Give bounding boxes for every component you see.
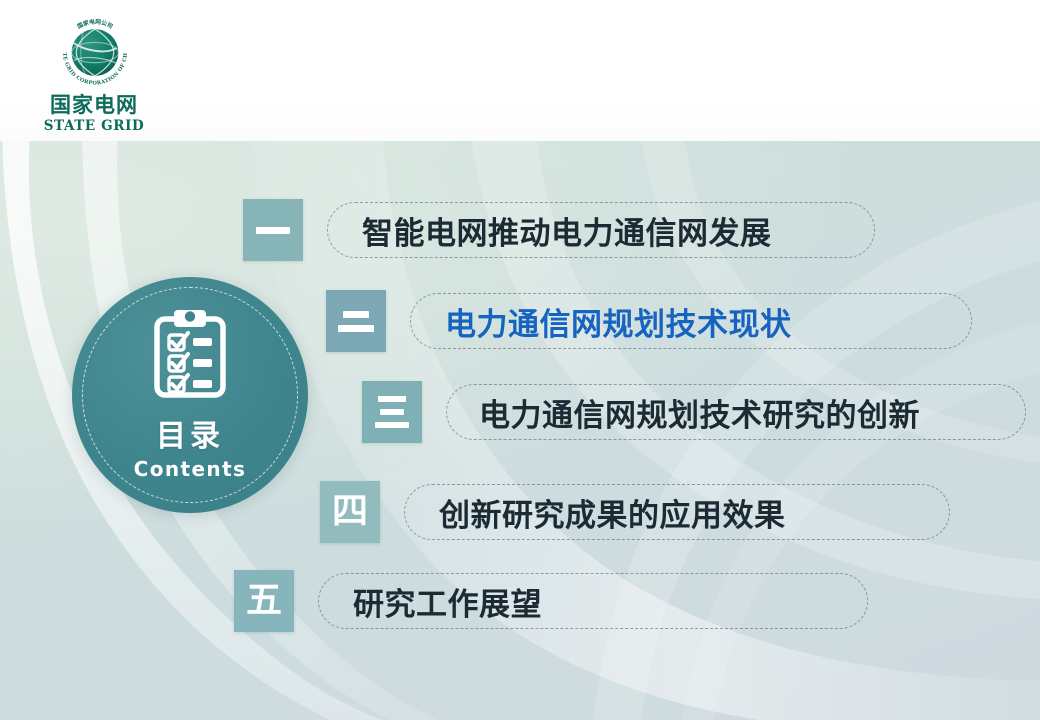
slide-header-band: 国家电网公司 STATE GRID CORPORATION OF CHINA 国… — [0, 0, 1040, 141]
toc-row-4[interactable]: 四 创新研究成果的应用效果 — [320, 481, 960, 543]
contents-title-en: Contents — [72, 457, 308, 481]
toc-numeral-4: 四 — [332, 494, 368, 530]
logo-chinese-name: 国家电网 — [34, 94, 154, 116]
toc-label-4: 创新研究成果的应用效果 — [439, 490, 786, 535]
state-grid-emblem-icon: 国家电网公司 STATE GRID CORPORATION OF CHINA — [56, 12, 134, 90]
toc-row-2[interactable]: 电力通信网规划技术现状 — [326, 290, 1006, 352]
toc-pill-4[interactable]: 创新研究成果的应用效果 — [404, 484, 950, 540]
toc-row-1[interactable]: 智能电网推动电力通信网发展 — [243, 199, 883, 261]
toc-number-badge-5[interactable]: 五 — [234, 570, 294, 632]
slide-canvas: 目录 Contents 智能电网推动电力通信网发展 电力通信网规划技术现状 — [0, 0, 1040, 720]
toc-label-1: 智能电网推动电力通信网发展 — [362, 208, 772, 253]
toc-number-badge-2[interactable] — [326, 290, 386, 352]
toc-number-badge-3[interactable] — [362, 381, 422, 443]
toc-label-2: 电力通信网规划技术现状 — [445, 299, 792, 344]
logo-english-name: STATE GRID — [34, 118, 154, 134]
numeral-bars-1 — [256, 227, 290, 234]
toc-label-5: 研究工作展望 — [353, 579, 542, 624]
toc-pill-2[interactable]: 电力通信网规划技术现状 — [410, 293, 972, 349]
toc-number-badge-1[interactable] — [243, 199, 303, 261]
toc-label-3: 电力通信网规划技术研究的创新 — [479, 390, 920, 435]
toc-numeral-5: 五 — [246, 583, 282, 619]
toc-row-5[interactable]: 五 研究工作展望 — [234, 570, 884, 632]
contents-title-cn: 目录 — [72, 420, 308, 454]
toc-pill-1[interactable]: 智能电网推动电力通信网发展 — [327, 202, 875, 258]
clipboard-checklist-icon — [153, 307, 227, 399]
state-grid-logo: 国家电网公司 STATE GRID CORPORATION OF CHINA 国… — [34, 12, 154, 134]
numeral-bars-2 — [338, 311, 374, 332]
toc-number-badge-4[interactable]: 四 — [320, 481, 380, 543]
toc-pill-5[interactable]: 研究工作展望 — [318, 573, 868, 629]
toc-pill-3[interactable]: 电力通信网规划技术研究的创新 — [446, 384, 1026, 440]
toc-row-3[interactable]: 电力通信网规划技术研究的创新 — [362, 381, 1040, 443]
numeral-bars-3 — [375, 396, 409, 428]
contents-circle: 目录 Contents — [72, 277, 308, 513]
